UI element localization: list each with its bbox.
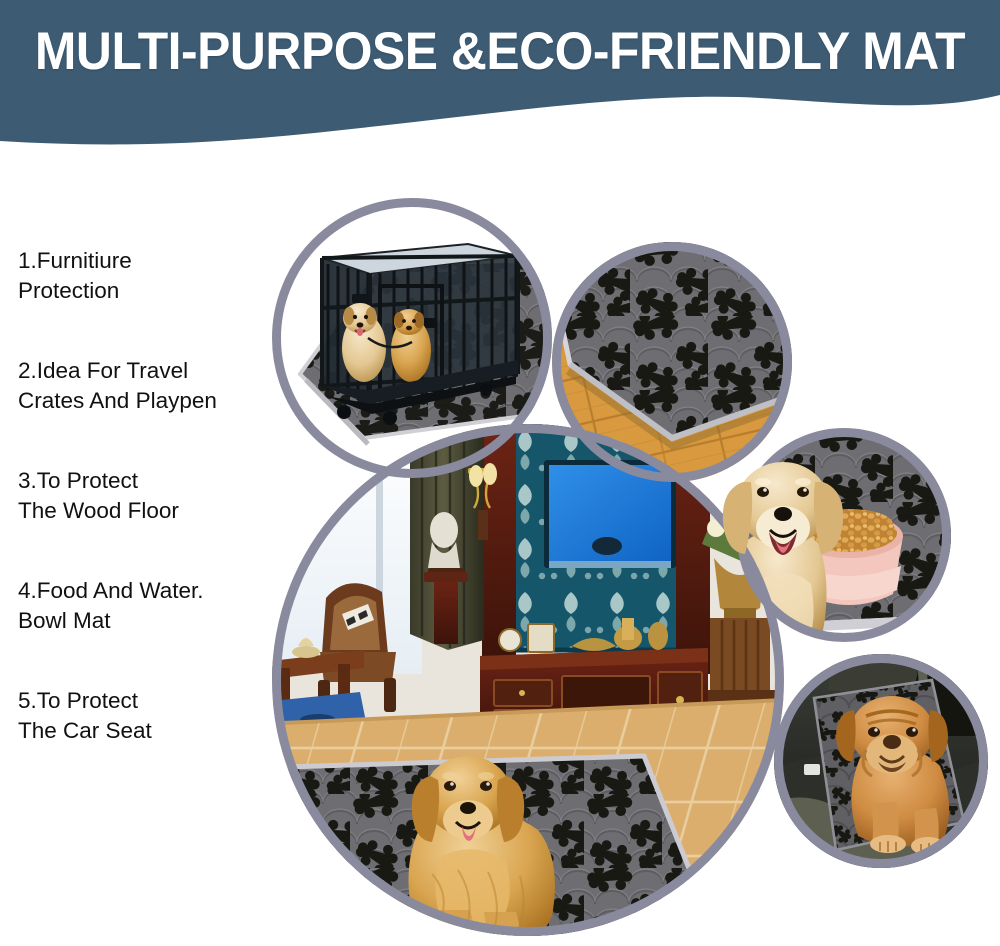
page-title: MULTI-PURPOSE &ECO-FRIENDLY MAT (30, 22, 970, 82)
feature-item-4: 4.Food And Water. Bowl Mat (18, 576, 286, 636)
feature-list: 1.Furnitiure Protection 2.Idea For Trave… (18, 246, 286, 746)
product-infographic: MULTI-PURPOSE &ECO-FRIENDLY MAT 1.Furnit… (0, 0, 1000, 946)
puppy-on-car-seat-mat-photo (774, 654, 988, 868)
living-room-with-dog-photo (272, 424, 784, 936)
feature-item-3: 3.To Protect The Wood Floor (18, 466, 286, 526)
feature-item-5: 5.To Protect The Car Seat (18, 686, 286, 746)
feature-item-2: 2.Idea For Travel Crates And Playpen (18, 356, 286, 416)
feature-item-1: 1.Furnitiure Protection (18, 246, 286, 306)
